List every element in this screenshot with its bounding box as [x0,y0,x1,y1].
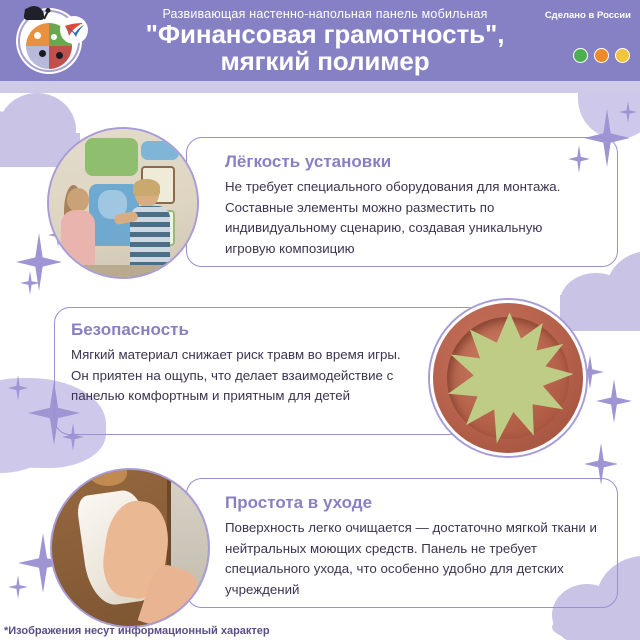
ladybug-spot [56,52,63,59]
ladybug-head [24,6,44,20]
page-title-line2: мягкий полимер [100,48,550,75]
page-header: Развивающая настенно-напольная панель мо… [0,0,640,81]
photo1-profession-board [85,138,138,176]
dot-yellow [615,48,630,63]
feature-card-3: Простота в уходе Поверхность легко очища… [186,478,618,608]
sparkle-icon [596,379,632,423]
feature-card-2-body: Мягкий материал снижает риск травм во вр… [71,345,411,407]
photo1-boy-hair [133,179,160,195]
flag-dots [573,48,630,63]
footnote: *Изображения несут информационный характ… [4,625,270,637]
sparkle-icon [8,575,28,599]
dot-green [573,48,588,63]
photo1-blue-sign [141,141,179,160]
brand-logo [11,10,99,72]
checkmark-swoosh-icon [60,16,88,44]
ladybug-spot [51,34,57,40]
photo-hand-wiping-surface [50,468,210,628]
ladybug-quadrant-lavender [26,46,49,69]
header-accent-strip [0,81,640,93]
photo-children-at-panel [47,127,199,279]
dot-orange [594,48,609,63]
feature-card-3-body: Поверхность легко очищается — достаточно… [225,518,603,600]
page-title-line1: "Финансовая грамотность", [100,21,550,48]
photo1-girl-head [67,188,89,212]
photo-soft-polymer-palm-element [428,298,588,458]
feature-card-3-title: Простота в уходе [225,493,603,513]
photo1-floor [49,265,197,277]
feature-card-1-title: Лёгкость установки [225,152,595,172]
ladybug-spot [34,32,41,39]
feature-card-2-title: Безопасность [71,320,411,340]
ladybug-spot [39,50,46,57]
page-title: "Финансовая грамотность", мягкий полимер [100,21,550,75]
feature-card-1: Лёгкость установки Не требует специально… [186,137,618,267]
feature-card-1-body: Не требует специального оборудования для… [225,177,595,259]
made-in-russia-label: Сделано в России [545,10,631,21]
